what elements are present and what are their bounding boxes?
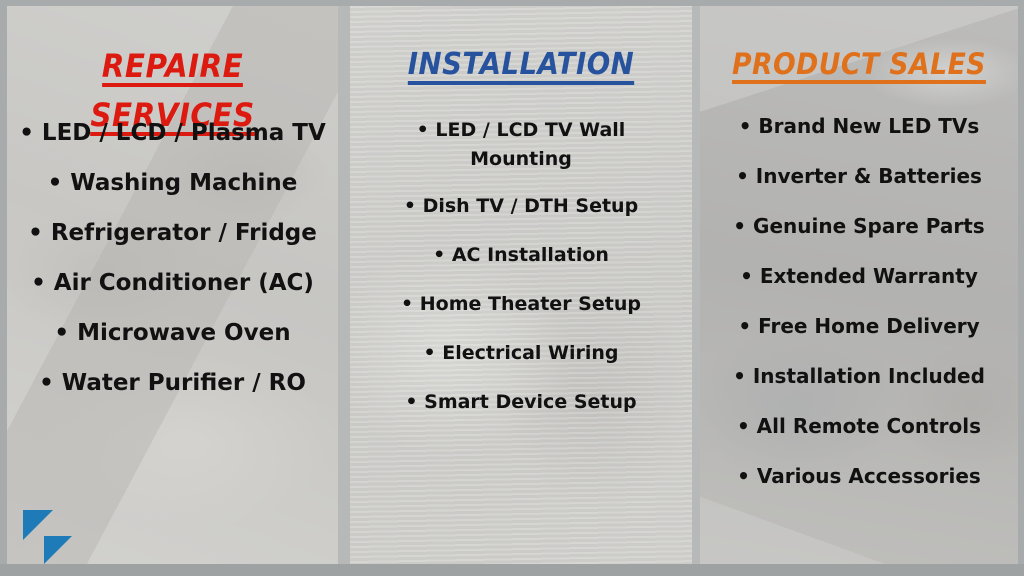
list-item[interactable]: • All Remote Controls <box>700 416 1018 436</box>
blue-triangle-lower-icon <box>44 536 72 564</box>
list-item[interactable]: • LED / LCD / Plasma TV <box>7 122 338 145</box>
heading-line-1: INSTALLATION <box>408 50 634 85</box>
list-item[interactable]: • Smart Device Setup <box>350 393 692 412</box>
panel-heading-product-sales: PRODUCT SALES <box>713 50 1006 84</box>
frame-bottom-edge <box>0 564 1024 576</box>
frame-left-edge <box>0 0 7 576</box>
panel-product-sales[interactable]: PRODUCT SALES • Brand New LED TVs • Inve… <box>700 6 1018 564</box>
panel-installation[interactable]: INSTALLATION • LED / LCD TV Wall Mountin… <box>350 6 692 564</box>
heading-line-1: REPAIRE <box>102 50 243 87</box>
list-item[interactable]: • Free Home Delivery <box>700 316 1018 336</box>
list-item[interactable]: • Air Conditioner (AC) <box>7 272 338 295</box>
list-item[interactable]: • Brand New LED TVs <box>700 116 1018 136</box>
service-list-installation: • LED / LCD TV Wall Mounting • Dish TV /… <box>350 116 692 442</box>
blue-arrow-decoration <box>7 502 73 564</box>
list-item[interactable]: • Genuine Spare Parts <box>700 216 1018 236</box>
list-item[interactable]: • AC Installation <box>350 246 692 265</box>
service-list-sales: • Brand New LED TVs • Inverter & Batteri… <box>700 116 1018 516</box>
list-item[interactable]: • Electrical Wiring <box>350 344 692 363</box>
slide-canvas: REPAIRE SERVICES • LED / LCD / Plasma TV… <box>0 0 1024 576</box>
panel-repair-services[interactable]: REPAIRE SERVICES • LED / LCD / Plasma TV… <box>7 6 338 564</box>
list-item[interactable]: • Installation Included <box>700 366 1018 386</box>
list-item[interactable]: • Home Theater Setup <box>350 295 692 314</box>
list-item[interactable]: • LED / LCD TV Wall Mounting <box>406 116 636 175</box>
list-item[interactable]: • Washing Machine <box>7 172 338 195</box>
list-item[interactable]: • Water Purifier / RO <box>7 372 338 395</box>
panel-heading-installation: INSTALLATION <box>364 50 679 85</box>
frame-right-edge <box>1018 0 1024 576</box>
service-list-repair: • LED / LCD / Plasma TV • Washing Machin… <box>7 122 338 422</box>
list-item[interactable]: • Extended Warranty <box>700 266 1018 286</box>
list-item[interactable]: • Dish TV / DTH Setup <box>350 197 692 216</box>
list-item[interactable]: • Inverter & Batteries <box>700 166 1018 186</box>
list-item[interactable]: • Microwave Oven <box>7 322 338 345</box>
list-item[interactable]: • Various Accessories <box>700 466 1018 486</box>
heading-line-1: PRODUCT SALES <box>732 50 986 84</box>
list-item[interactable]: • Refrigerator / Fridge <box>7 222 338 245</box>
